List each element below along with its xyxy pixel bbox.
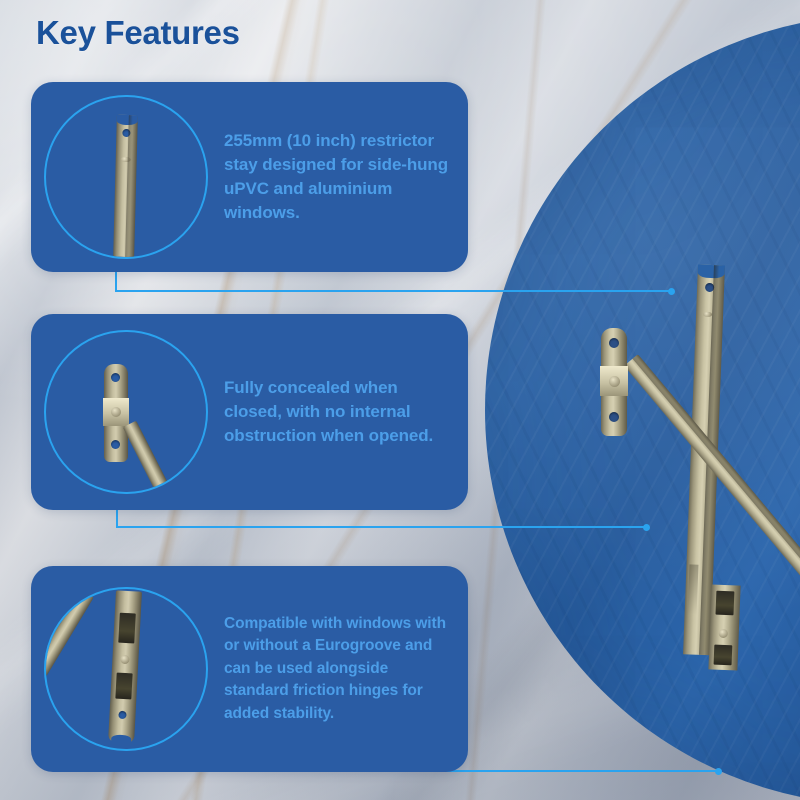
page-title: Key Features: [36, 14, 240, 52]
feature-text-3: Compatible with windows with or without …: [224, 613, 452, 725]
hero-bracket-hole-bottom-icon: [609, 412, 619, 422]
hero-mounting-bracket: [601, 328, 627, 436]
hero-product-image: [530, 240, 800, 670]
feature-card-2[interactable]: Fully concealed when closed, with no int…: [31, 314, 468, 510]
restrictor-stay-arm-closeup-icon: [113, 115, 138, 258]
hero-bracket-hole-top-icon: [609, 338, 619, 348]
restrictor-stay-track-icon: [108, 590, 142, 743]
restrictor-stay-bracket-closeup-icon: [104, 364, 128, 462]
hero-rail-end-block: [708, 584, 740, 670]
hero-track-rivet-icon: [703, 312, 712, 317]
feature-text-1: 255mm (10 inch) restrictor stay designed…: [224, 129, 452, 226]
restrictor-stay-hinge-closeup-icon: [44, 589, 94, 677]
feature-card-1[interactable]: 255mm (10 inch) restrictor stay designed…: [31, 82, 468, 272]
feature-thumb-3: [44, 587, 208, 751]
restrictor-stay-arm-segment-icon: [123, 421, 172, 494]
feature-thumb-2: [44, 330, 208, 494]
feature-card-3[interactable]: Compatible with windows with or without …: [31, 566, 468, 772]
feature-thumb-1: [44, 95, 208, 259]
feature-text-2: Fully concealed when closed, with no int…: [224, 376, 452, 448]
infographic-canvas: Key Features 255mm (10 inch) restrictor …: [0, 0, 800, 800]
hero-bracket-screw-icon: [609, 376, 620, 387]
